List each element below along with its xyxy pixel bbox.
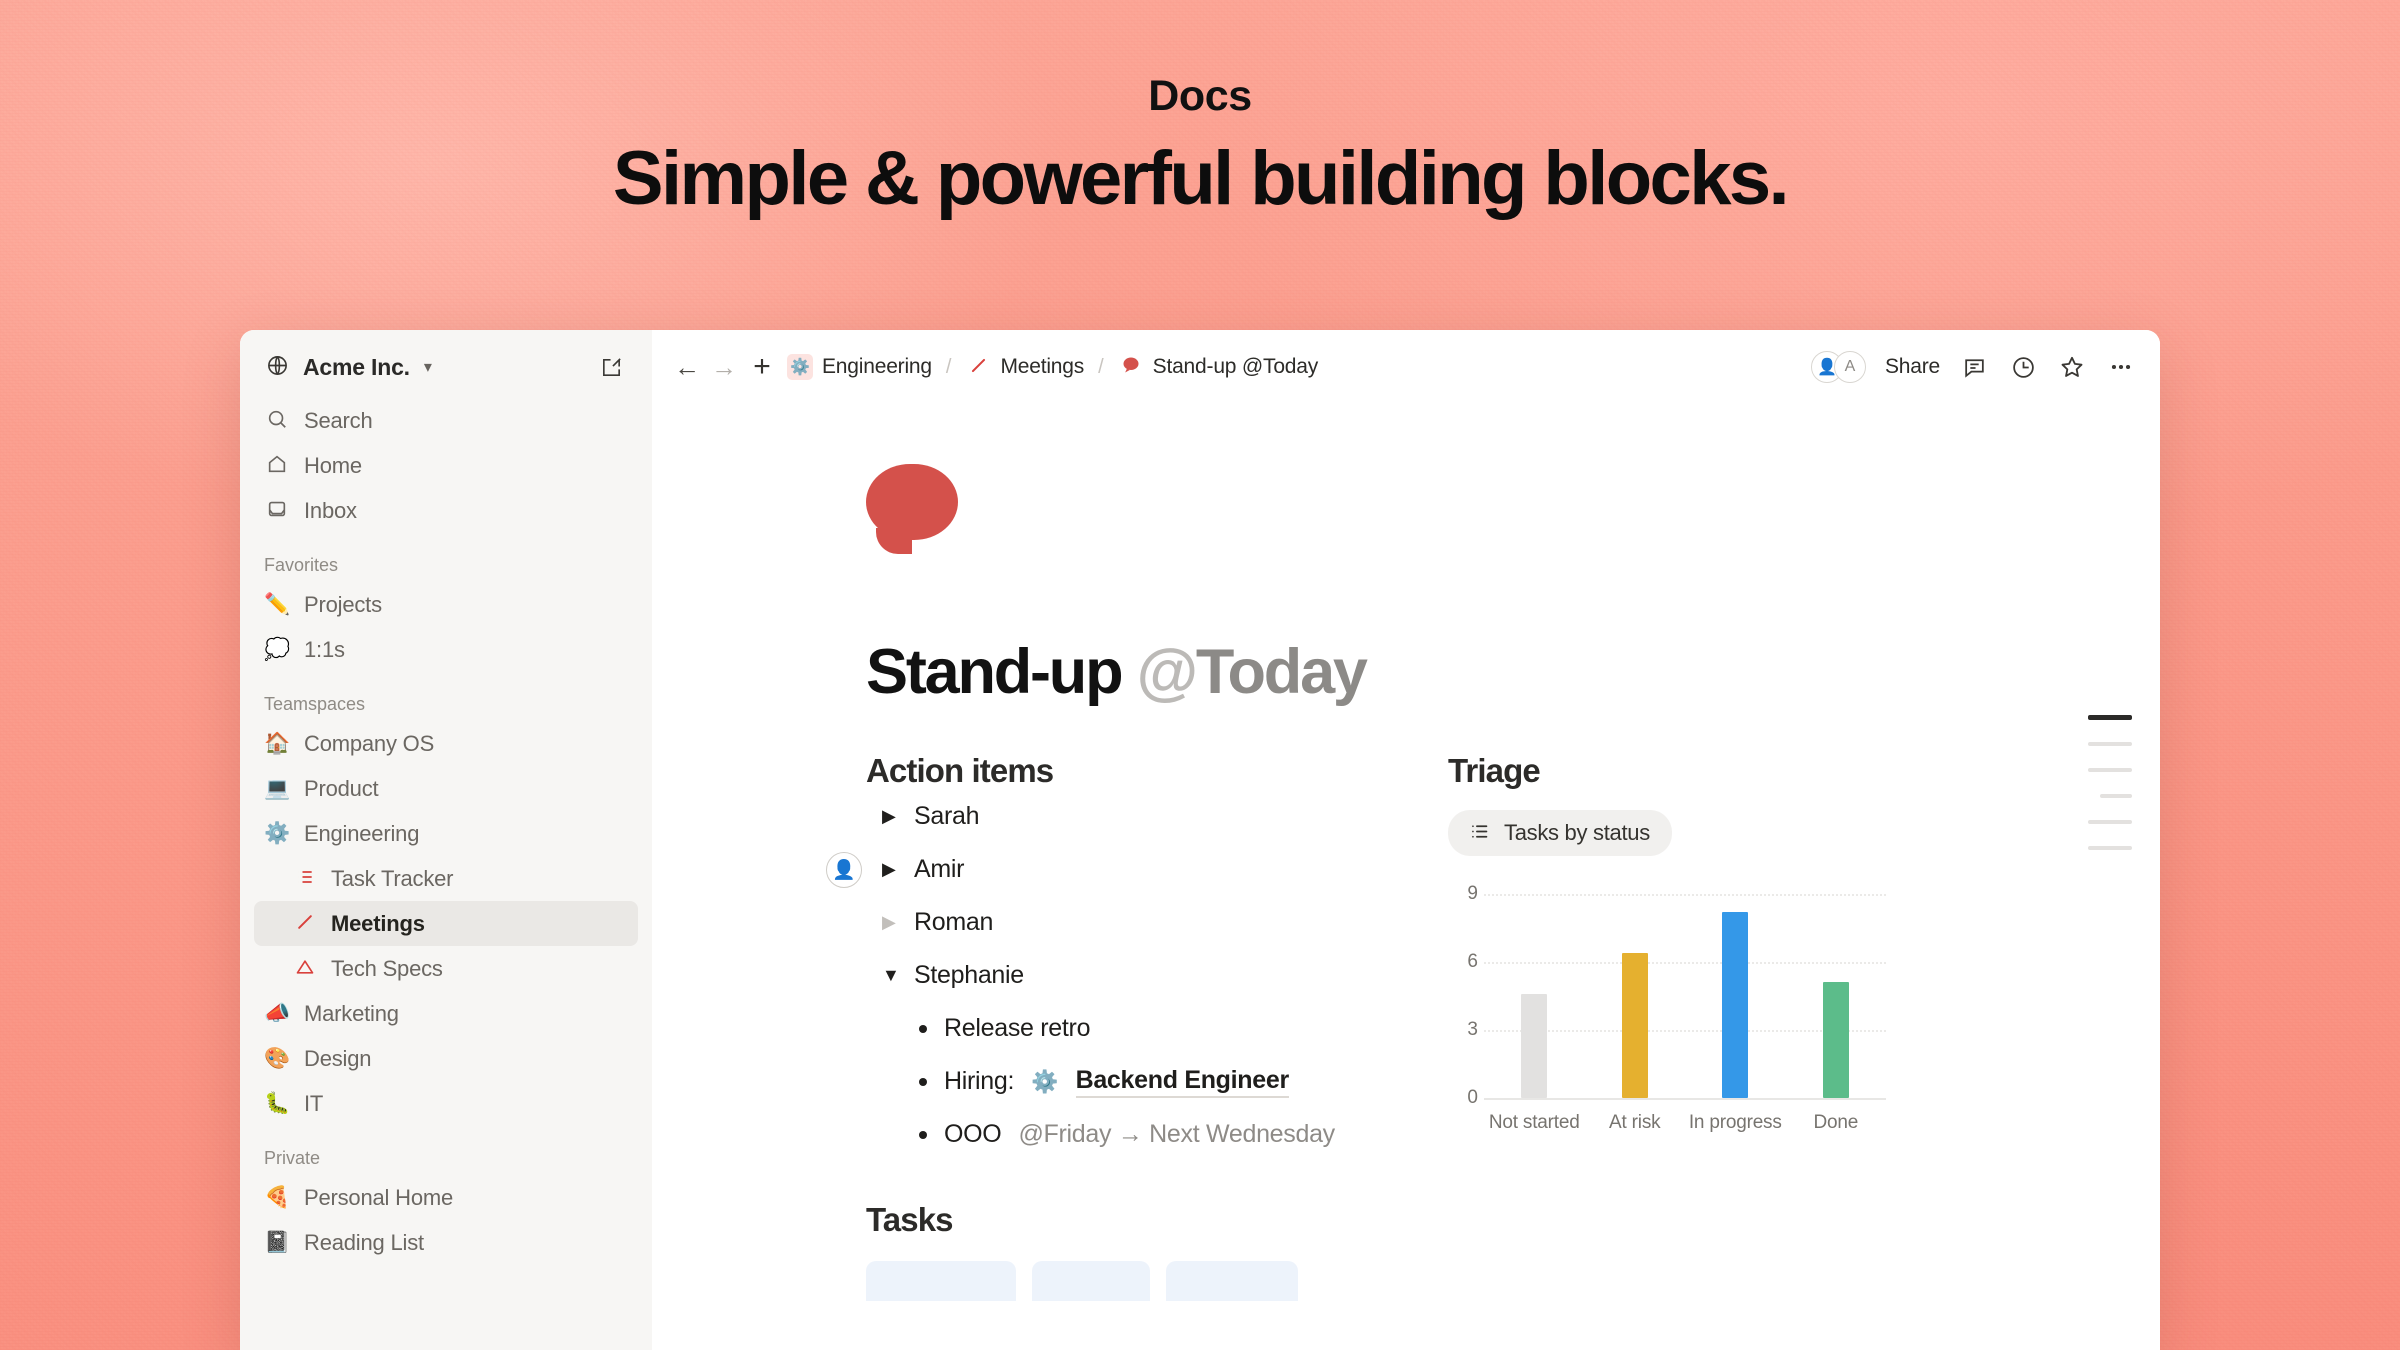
page-link-backend-engineer[interactable]: Backend Engineer [1076,1066,1289,1098]
sidebar-item-label: Inbox [304,498,357,524]
pencil-icon: ✏️ [264,594,290,615]
toggle-label: Amir [914,855,964,884]
top-toolbar: ← → + ⚙️ Engineering / Meetings / [652,336,2160,398]
action-items-heading: Action items [866,752,1426,790]
list-item[interactable]: OOO @Friday → Next Wednesday [866,1108,1426,1161]
triangle-right-icon[interactable]: ▶ [882,806,898,827]
hero-eyebrow: Docs [0,0,2400,121]
page-title-mention: @Today [1137,637,1366,707]
speech-bubble-icon [1118,355,1144,379]
x-axis-tick: In progress [1685,1112,1786,1134]
breadcrumb-separator: / [1098,356,1104,379]
chart-bars [1484,894,1886,1098]
compose-icon[interactable] [594,350,628,384]
sidebar-item-label: IT [304,1091,323,1117]
sidebar-item-product[interactable]: 💻 Product [254,766,638,811]
plus-icon[interactable]: + [748,350,776,384]
notebook-icon: 📓 [264,1232,290,1253]
sidebar-section-private: Private [254,1148,638,1169]
collaborator-avatars[interactable]: 👤 A [1811,351,1866,383]
page-title-text: Stand-up [866,637,1137,707]
sidebar-item-design[interactable]: 🎨 Design [254,1036,638,1081]
megaphone-icon: 📣 [264,1003,290,1024]
inbox-icon [264,498,290,524]
view-chip-tasks-by-status[interactable]: Tasks by status [1448,810,1672,856]
home-icon [264,453,290,479]
bar-at-risk[interactable] [1622,953,1648,1098]
workspace-switcher[interactable]: Acme Inc. ▾ [254,336,638,398]
y-axis-tick: 3 [1448,1019,1478,1041]
speech-bubble-icon[interactable] [866,464,958,540]
document-columns: Action items ▶ Sarah 👤 ▶ Amir ▶ Roman [866,752,2160,1301]
arrow-left-icon[interactable]: ← [674,352,700,383]
sidebar-item-label: Product [304,776,378,802]
house-icon: 🏠 [264,733,290,754]
sidebar-item-label: Marketing [304,1001,399,1027]
bar-cell [1786,894,1887,1098]
date-mention[interactable]: @Friday → Next Wednesday [1018,1120,1334,1149]
share-button[interactable]: Share [1885,355,1940,379]
sidebar-item-marketing[interactable]: 📣 Marketing [254,991,638,1036]
sidebar-item-search[interactable]: Search [254,398,638,443]
sidebar-item-label: Meetings [331,911,425,937]
tasks-property-chips [866,1261,1426,1301]
sidebar-section-teamspaces: Teamspaces [254,694,638,715]
task-chip[interactable] [1032,1261,1150,1301]
breadcrumb-separator: / [946,356,952,379]
toggle-row-sarah[interactable]: ▶ Sarah [866,790,1426,843]
task-chip[interactable] [866,1261,1016,1301]
list-item[interactable]: Release retro [866,1002,1426,1055]
chart-plot-area [1484,894,1886,1098]
sidebar-item-task-tracker[interactable]: Task Tracker [254,856,638,901]
sidebar-item-label: Tech Specs [331,956,443,982]
list-item-label: Hiring: [944,1067,1014,1096]
sidebar-item-meetings[interactable]: Meetings [254,901,638,946]
star-icon[interactable] [2057,352,2087,382]
arrow-right-icon[interactable]: → [711,352,737,383]
x-axis-labels: Not started At risk In progress Done [1484,1112,1886,1134]
thought-balloon-icon: 💭 [264,639,290,660]
y-axis-tick: 9 [1448,883,1478,905]
sidebar-item-company-os[interactable]: 🏠 Company OS [254,721,638,766]
breadcrumb-item-engineering[interactable]: ⚙️ Engineering [787,354,932,380]
workspace-name: Acme Inc. [303,354,410,381]
sidebar-item-engineering[interactable]: ⚙️ Engineering [254,811,638,856]
bullet-icon [919,1025,927,1033]
view-chip-label: Tasks by status [1504,820,1650,846]
sidebar-item-label: Search [304,408,373,434]
sidebar-item-it[interactable]: 🐛 IT [254,1081,638,1126]
hero-title: Simple & powerful building blocks. [0,135,2400,222]
app-window: Acme Inc. ▾ Search Home [240,330,2160,1350]
pencil-icon [965,356,991,379]
sidebar-item-label: Personal Home [304,1185,453,1211]
search-icon [264,408,290,434]
sidebar-item-label: Engineering [304,821,419,847]
hero-section: Docs Simple & powerful building blocks. [0,0,2400,330]
bar-cell [1685,894,1786,1098]
list-icon [1466,821,1492,846]
pencil-icon [292,912,318,936]
more-icon[interactable] [2106,352,2136,382]
bar-in-progress[interactable] [1722,912,1748,1098]
column-left: Action items ▶ Sarah 👤 ▶ Amir ▶ Roman [866,752,1426,1301]
list-item-label: Release retro [944,1014,1090,1043]
sidebar-item-label: Task Tracker [331,866,453,892]
list-item[interactable]: Hiring: ⚙️ Backend Engineer [866,1055,1426,1108]
breadcrumb-item-meetings[interactable]: Meetings [965,355,1084,379]
toggle-row-stephanie[interactable]: ▼ Stephanie [866,949,1426,1002]
bug-icon: 🐛 [264,1093,290,1114]
triangle-right-icon[interactable]: ▶ [882,859,898,880]
breadcrumb-item-standup[interactable]: Stand-up @Today [1118,355,1318,379]
gear-icon: ⚙️ [787,354,813,380]
x-axis-tick: Not started [1484,1112,1585,1134]
sidebar-item-reading-list[interactable]: 📓 Reading List [254,1220,638,1265]
breadcrumb-label: Stand-up @Today [1153,355,1318,379]
list-item-label: OOO [944,1120,1001,1149]
gear-icon: ⚙️ [264,823,290,844]
breadcrumb-label: Meetings [1000,355,1084,379]
tasks-heading: Tasks [866,1201,1426,1239]
toolbar-actions: 👤 A Share [1811,351,2136,383]
sidebar-section-favorites: Favorites [254,555,638,576]
y-axis-tick: 0 [1448,1087,1478,1109]
toggle-row-amir[interactable]: 👤 ▶ Amir [866,843,1426,896]
sidebar-item-label: Design [304,1046,371,1072]
bullet-icon [919,1078,927,1086]
laptop-icon: 💻 [264,778,290,799]
sidebar-item-projects[interactable]: ✏️ Projects [254,582,638,627]
chevron-down-icon: ▾ [424,357,432,377]
breadcrumb: ← → + ⚙️ Engineering / Meetings / [674,350,1811,384]
document-body: Stand-up @Today Action items ▶ Sarah 👤 ▶… [652,398,2160,1301]
sidebar-item-1on1s[interactable]: 💭 1:1s [254,627,638,672]
sidebar-item-label: Home [304,453,362,479]
palette-icon: 🎨 [264,1048,290,1069]
axis-baseline [1484,1098,1886,1100]
sidebar-item-inbox[interactable]: Inbox [254,488,638,533]
breadcrumb-label: Engineering [822,355,932,379]
comment-icon[interactable] [1959,352,1989,382]
toggle-label: Roman [914,908,993,937]
column-right: Triage Tasks by status [1426,752,2160,1301]
y-axis-tick: 6 [1448,951,1478,973]
x-axis-tick: Done [1786,1112,1887,1134]
main-content: ← → + ⚙️ Engineering / Meetings / [652,330,2160,1350]
sidebar-item-label: Projects [304,592,382,618]
gear-icon: ⚙️ [1031,1069,1058,1095]
list-icon [292,867,318,891]
triangle-right-icon[interactable]: ▶ [882,912,898,933]
page-title[interactable]: Stand-up @Today [866,636,2160,708]
avatar[interactable]: 👤 [826,852,862,888]
sidebar-item-home[interactable]: Home [254,443,638,488]
history-icon[interactable] [2008,352,2038,382]
sidebar-item-tech-specs[interactable]: Tech Specs [254,946,638,991]
bar-done[interactable] [1823,982,1849,1098]
warning-triangle-icon [292,957,318,981]
sidebar-item-personal-home[interactable]: 🍕 Personal Home [254,1175,638,1220]
bar-cell [1484,894,1585,1098]
bar-not-started[interactable] [1521,994,1547,1098]
globe-icon [264,354,290,381]
toggle-label: Stephanie [914,961,1024,990]
tasks-by-status-bar-chart: 9 6 3 0 Not started At risk In progress … [1448,886,1886,1134]
triage-heading: Triage [1448,752,2160,790]
sidebar-item-label: Reading List [304,1230,424,1256]
bar-cell [1585,894,1686,1098]
toggle-row-roman[interactable]: ▶ Roman [866,896,1426,949]
toggle-label: Sarah [914,802,979,831]
sidebar-item-label: Company OS [304,731,434,757]
triangle-down-icon[interactable]: ▼ [882,965,898,986]
sidebar-item-label: 1:1s [304,637,345,663]
x-axis-tick: At risk [1585,1112,1686,1134]
pizza-icon: 🍕 [264,1187,290,1208]
sidebar: Acme Inc. ▾ Search Home [240,330,652,1350]
bullet-icon [919,1131,927,1139]
avatar[interactable]: A [1834,351,1866,383]
task-chip[interactable] [1166,1261,1298,1301]
